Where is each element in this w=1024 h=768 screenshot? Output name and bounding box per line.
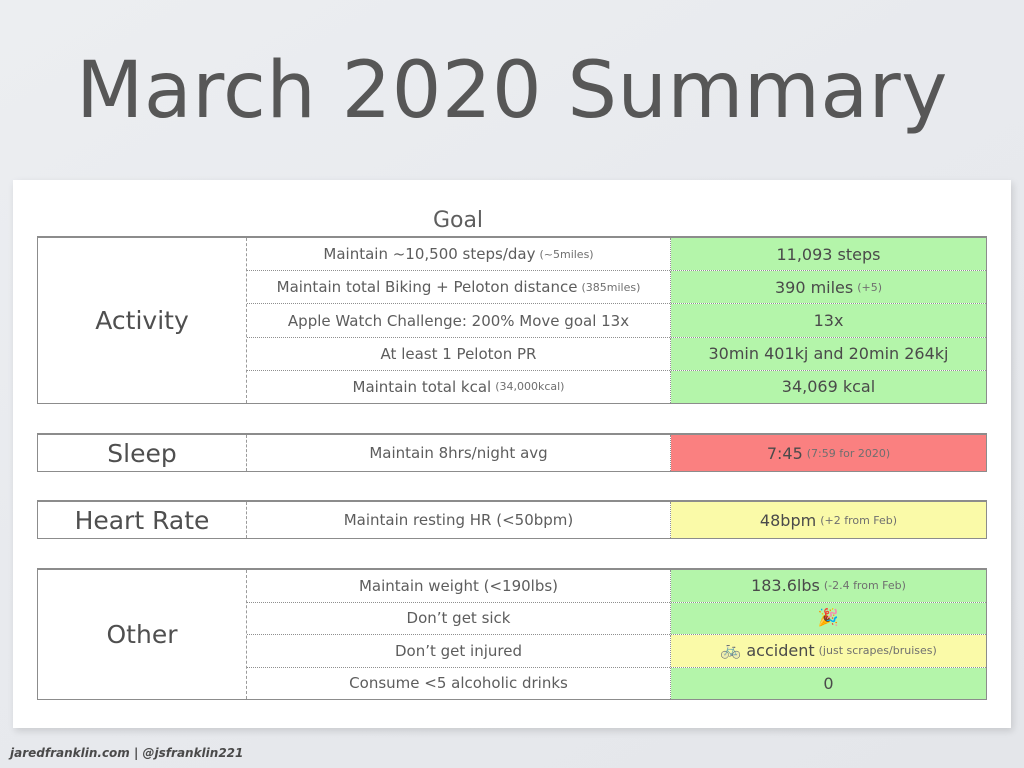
goal-text: Maintain total kcal	[353, 378, 492, 396]
goal-cell: Maintain ~10,500 steps/day(~5miles)	[247, 238, 671, 270]
result-cell: 183.6lbs(-2.4 from Feb)	[671, 570, 986, 602]
result-text: 0	[823, 674, 833, 693]
table-row: Maintain 8hrs/night avg7:45(7:59 for 202…	[247, 435, 986, 471]
goal-cell: Maintain total kcal(34,000kcal)	[247, 371, 671, 403]
goal-text: Maintain 8hrs/night avg	[369, 444, 547, 462]
goal-text: Don’t get sick	[407, 609, 511, 627]
section-activity: ActivityMaintain ~10,500 steps/day(~5mil…	[37, 236, 987, 404]
section-label-heart-rate: Heart Rate	[38, 502, 247, 538]
result-cell: 13x	[671, 304, 986, 336]
table-row: Consume <5 alcoholic drinks0	[247, 668, 986, 700]
goal-cell: Consume <5 alcoholic drinks	[247, 668, 671, 700]
goal-cell: Maintain total Biking + Peloton distance…	[247, 271, 671, 303]
goal-text: Maintain ~10,500 steps/day	[323, 245, 535, 263]
section-rows: Maintain 8hrs/night avg7:45(7:59 for 202…	[247, 435, 986, 471]
section-label-activity: Activity	[38, 238, 247, 403]
goal-subtext: (~5miles)	[539, 248, 593, 261]
section-label-other: Other	[38, 570, 247, 699]
result-subtext: (+5)	[857, 281, 882, 294]
page-title: March 2020 Summary	[0, 52, 1024, 130]
party-popper-icon: 🎉	[818, 608, 839, 628]
result-cell: 390 miles(+5)	[671, 271, 986, 303]
table-row: Apple Watch Challenge: 200% Move goal 13…	[247, 304, 986, 337]
goal-cell: Maintain 8hrs/night avg	[247, 435, 671, 471]
result-cell: 11,093 steps	[671, 238, 986, 270]
result-cell: 🎉	[671, 603, 986, 635]
result-cell: 48bpm(+2 from Feb)	[671, 502, 986, 538]
section-other: OtherMaintain weight (<190lbs)183.6lbs(-…	[37, 568, 987, 700]
table-row: Don’t get sick🎉	[247, 603, 986, 636]
table-row: Maintain total Biking + Peloton distance…	[247, 271, 986, 304]
goal-cell: Maintain weight (<190lbs)	[247, 570, 671, 602]
goal-cell: Apple Watch Challenge: 200% Move goal 13…	[247, 304, 671, 336]
goal-column-header: Goal	[246, 208, 670, 233]
goal-subtext: (385miles)	[581, 281, 640, 294]
goal-text: Maintain total Biking + Peloton distance	[277, 278, 578, 296]
section-heart-rate: Heart RateMaintain resting HR (<50bpm)48…	[37, 500, 987, 539]
section-rows: Maintain weight (<190lbs)183.6lbs(-2.4 f…	[247, 570, 986, 699]
goal-subtext: (34,000kcal)	[495, 380, 564, 393]
result-text: 34,069 kcal	[782, 377, 875, 396]
goal-cell: Don’t get injured	[247, 635, 671, 667]
result-cell: 30min 401kj and 20min 264kj	[671, 338, 986, 370]
footer-credit: jaredfranklin.com | @jsfranklin221	[10, 746, 243, 760]
result-text: 30min 401kj and 20min 264kj	[708, 344, 948, 363]
result-cell: 0	[671, 668, 986, 700]
goal-cell: At least 1 Peloton PR	[247, 338, 671, 370]
result-text: 11,093 steps	[776, 245, 880, 264]
table-row: Maintain total kcal(34,000kcal)34,069 kc…	[247, 371, 986, 403]
result-text: 390 miles	[775, 278, 853, 297]
goal-cell: Maintain resting HR (<50bpm)	[247, 502, 671, 538]
result-cell: 34,069 kcal	[671, 371, 986, 403]
result-text: 13x	[814, 311, 844, 330]
goal-cell: Don’t get sick	[247, 603, 671, 635]
goal-text: Don’t get injured	[395, 642, 522, 660]
result-subtext: (+2 from Feb)	[820, 514, 897, 527]
goal-text: Apple Watch Challenge: 200% Move goal 13…	[288, 312, 629, 330]
goal-text: Maintain resting HR (<50bpm)	[344, 511, 574, 529]
result-text: 7:45	[767, 444, 803, 463]
result-cell: 🚲accident(just scrapes/bruises)	[671, 635, 986, 667]
goal-text: At least 1 Peloton PR	[381, 345, 537, 363]
goal-text: Consume <5 alcoholic drinks	[349, 674, 568, 692]
result-cell: 7:45(7:59 for 2020)	[671, 435, 986, 471]
result-text: 183.6lbs	[751, 576, 820, 595]
section-label-sleep: Sleep	[38, 435, 247, 471]
bicycle-icon: 🚲	[720, 642, 741, 659]
table-row: At least 1 Peloton PR30min 401kj and 20m…	[247, 338, 986, 371]
goal-text: Maintain weight (<190lbs)	[359, 577, 558, 595]
section-sleep: SleepMaintain 8hrs/night avg7:45(7:59 fo…	[37, 433, 987, 472]
result-text: 48bpm	[760, 511, 816, 530]
table-row: Maintain resting HR (<50bpm)48bpm(+2 fro…	[247, 502, 986, 538]
table-row: Maintain weight (<190lbs)183.6lbs(-2.4 f…	[247, 570, 986, 603]
result-subtext: (just scrapes/bruises)	[819, 644, 937, 657]
result-text: accident	[746, 641, 814, 660]
result-subtext: (7:59 for 2020)	[807, 447, 890, 460]
section-rows: Maintain ~10,500 steps/day(~5miles)11,09…	[247, 238, 986, 403]
section-rows: Maintain resting HR (<50bpm)48bpm(+2 fro…	[247, 502, 986, 538]
result-subtext: (-2.4 from Feb)	[824, 579, 906, 592]
table-row: Don’t get injured🚲accident(just scrapes/…	[247, 635, 986, 668]
table-row: Maintain ~10,500 steps/day(~5miles)11,09…	[247, 238, 986, 271]
